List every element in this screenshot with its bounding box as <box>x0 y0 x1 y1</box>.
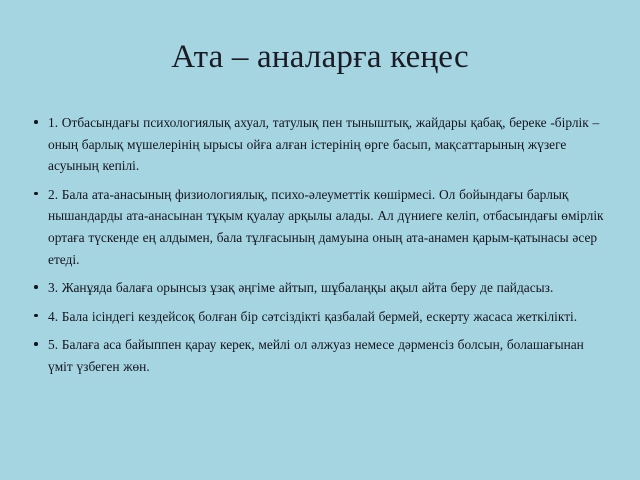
bullet-text: 2. Бала ата-анасының физиологиялық, псих… <box>48 184 610 270</box>
bullet-text: 4. Бала ісіндегі кездейсоқ болған бір сә… <box>48 306 610 328</box>
bullet-marker-icon <box>34 285 38 289</box>
bullet-text: 5. Балаға аса байыппен қарау керек, мейл… <box>48 334 610 377</box>
list-item: 5. Балаға аса байыппен қарау керек, мейл… <box>30 334 610 377</box>
presentation-slide: Ата – аналарға кеңес 1. Отбасындағы псих… <box>0 0 640 480</box>
bullet-text: 3. Жанұяда балаға орынсыз ұзақ әңгіме ай… <box>48 277 610 299</box>
list-item: 1. Отбасындағы психологиялық ахуал, тату… <box>30 112 610 177</box>
bullet-marker-icon <box>34 342 38 346</box>
slide-body: 1. Отбасындағы психологиялық ахуал, тату… <box>30 112 610 378</box>
bullet-list: 1. Отбасындағы психологиялық ахуал, тату… <box>30 112 610 378</box>
slide-title: Ата – аналарға кеңес <box>0 36 640 78</box>
bullet-marker-icon <box>34 314 38 318</box>
bullet-text: 1. Отбасындағы психологиялық ахуал, тату… <box>48 112 610 177</box>
list-item: 2. Бала ата-анасының физиологиялық, псих… <box>30 184 610 270</box>
list-item: 3. Жанұяда балаға орынсыз ұзақ әңгіме ай… <box>30 277 610 299</box>
list-item: 4. Бала ісіндегі кездейсоқ болған бір сә… <box>30 306 610 328</box>
bullet-marker-icon <box>34 120 38 124</box>
bullet-marker-icon <box>34 192 38 196</box>
